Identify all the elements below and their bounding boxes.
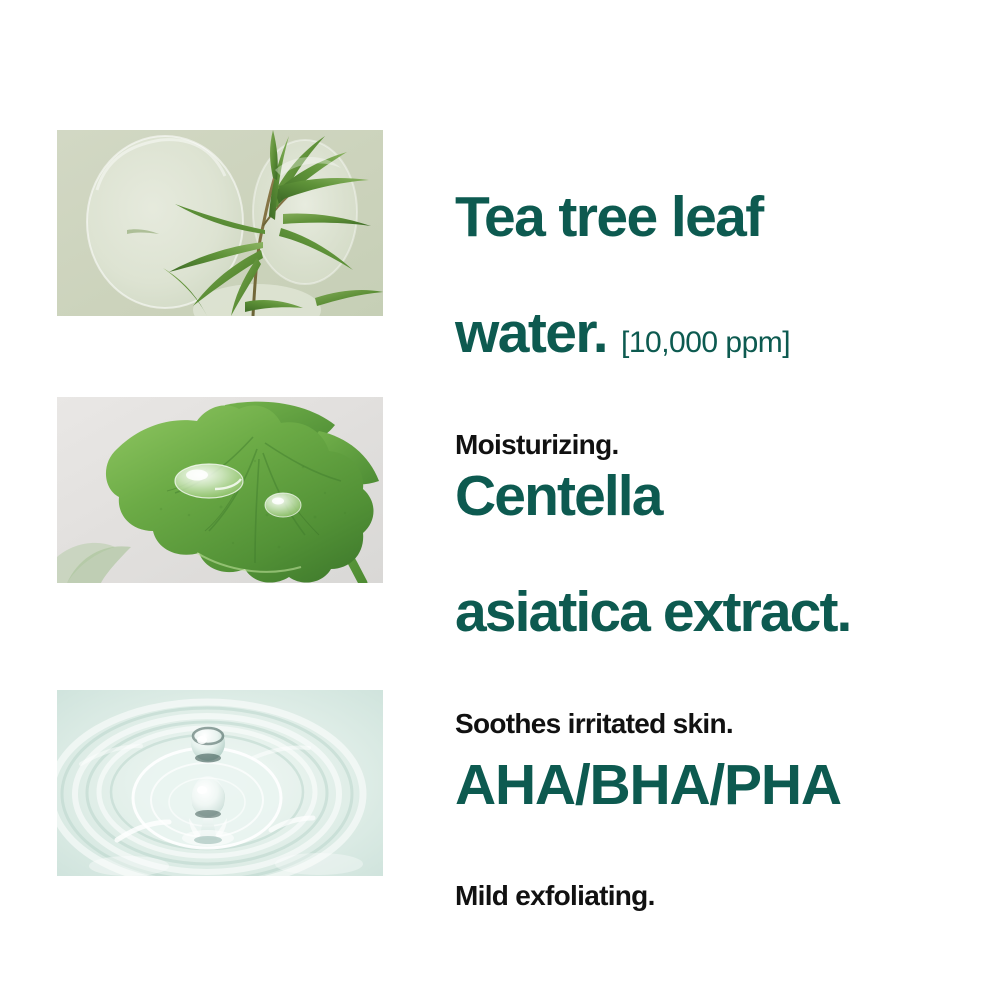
- tea-tree-leaf-photo: [57, 130, 383, 316]
- headline-line-2: water.: [455, 304, 607, 362]
- ingredient-copy: AHA/BHA/PHA Mild exfoliating.: [455, 690, 1000, 912]
- ingredient-headline: Tea tree leaf water. [10,000 ppm]: [455, 130, 1000, 421]
- headline-line-1: Centella: [455, 467, 1000, 525]
- ingredient-row: AHA/BHA/PHA Mild exfoliating.: [0, 690, 1000, 912]
- tea-tree-leaf-illustration: [57, 130, 383, 316]
- ingredient-infographic: Tea tree leaf water. [10,000 ppm] Moistu…: [0, 0, 1000, 1000]
- headline-line-1: AHA/BHA/PHA: [455, 756, 1000, 814]
- ingredient-headline: Centella asiatica extract.: [455, 409, 1000, 700]
- ingredient-headline: AHA/BHA/PHA: [455, 698, 1000, 872]
- headline-line-1: Tea tree leaf: [455, 188, 1000, 246]
- headline-line-2: asiatica extract.: [455, 583, 1000, 641]
- ingredient-copy: Centella asiatica extract. Soothes irrit…: [455, 397, 1000, 740]
- ingredient-row: Centella asiatica extract. Soothes irrit…: [0, 397, 1000, 740]
- centella-leaf-photo: [57, 397, 383, 583]
- water-ripple-illustration: [57, 690, 383, 876]
- ingredient-benefit: Mild exfoliating.: [455, 880, 1000, 912]
- water-droplet-ripple-photo: [57, 690, 383, 876]
- centella-leaf-illustration: [57, 397, 383, 583]
- ingredient-dose: [10,000 ppm]: [621, 328, 790, 359]
